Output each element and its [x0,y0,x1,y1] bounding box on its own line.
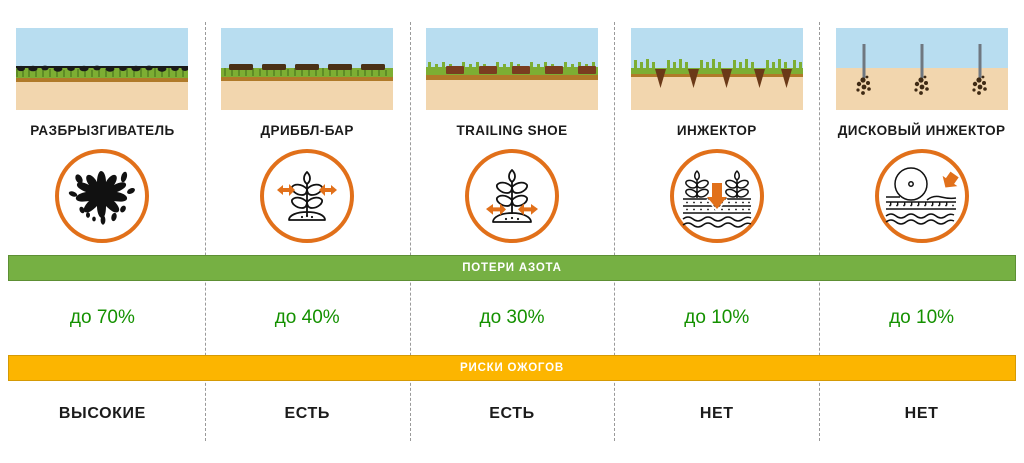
method-column-dribble-bar: ДРИББЛ-БАР [205,0,410,243]
banner-nitrogen-losses: ПОТЕРИ АЗОТА [8,255,1016,281]
method-column-injector: ИНЖЕКТОР [614,0,819,243]
trailing-shoe-scene [426,28,598,110]
banner-nitrogen-label: ПОТЕРИ АЗОТА [462,262,562,274]
banner-burns-label: РИСКИ ОЖОГОВ [460,362,564,374]
nitrogen-loss-value: до 10% [614,307,819,329]
soil-injection-arrow-icon [670,149,764,243]
method-label: ДИСКОВЫЙ ИНЖЕКТОР [838,122,1006,140]
burn-risk-value: НЕТ [614,405,819,423]
infographic-root: РАЗБРЫЗГИВАТЕЛЬ [0,0,1024,463]
disc-injector-icon [875,149,969,243]
burn-risk-value: ЕСТЬ [410,405,615,423]
nitrogen-loss-values-row: до 70% до 40% до 30% до 10% до 10% [0,307,1024,329]
burn-risk-value: ВЫСОКИЕ [0,405,205,423]
burn-risk-value: НЕТ [819,405,1024,423]
injector-scene [631,28,803,110]
method-label: TRAILING SHOE [457,122,568,140]
method-column-sprinkler: РАЗБРЫЗГИВАТЕЛЬ [0,0,205,243]
method-columns: РАЗБРЫЗГИВАТЕЛЬ [0,0,1024,243]
burn-risk-value: ЕСТЬ [205,405,410,423]
method-column-disc-injector: ДИСКОВЫЙ ИНЖЕКТОР [819,0,1024,243]
plant-side-arrows-icon [260,149,354,243]
splash-surface-scene [16,28,188,110]
method-label: РАЗБРЫЗГИВАТЕЛЬ [30,122,174,140]
nitrogen-loss-value: до 70% [0,307,205,329]
banner-burn-risks: РИСКИ ОЖОГОВ [8,355,1016,381]
nitrogen-loss-value: до 10% [819,307,1024,329]
method-label: ИНЖЕКТОР [677,122,757,140]
nitrogen-loss-value: до 40% [205,307,410,329]
method-column-trailing-shoe: TRAILING SHOE [410,0,615,243]
plant-low-arrows-icon [465,149,559,243]
dribble-bar-scene [221,28,393,110]
disc-injector-scene [836,28,1008,110]
method-label: ДРИББЛ-БАР [261,122,354,140]
burn-risk-values-row: ВЫСОКИЕ ЕСТЬ ЕСТЬ НЕТ НЕТ [0,405,1024,423]
nitrogen-loss-value: до 30% [410,307,615,329]
splat-icon [55,149,149,243]
